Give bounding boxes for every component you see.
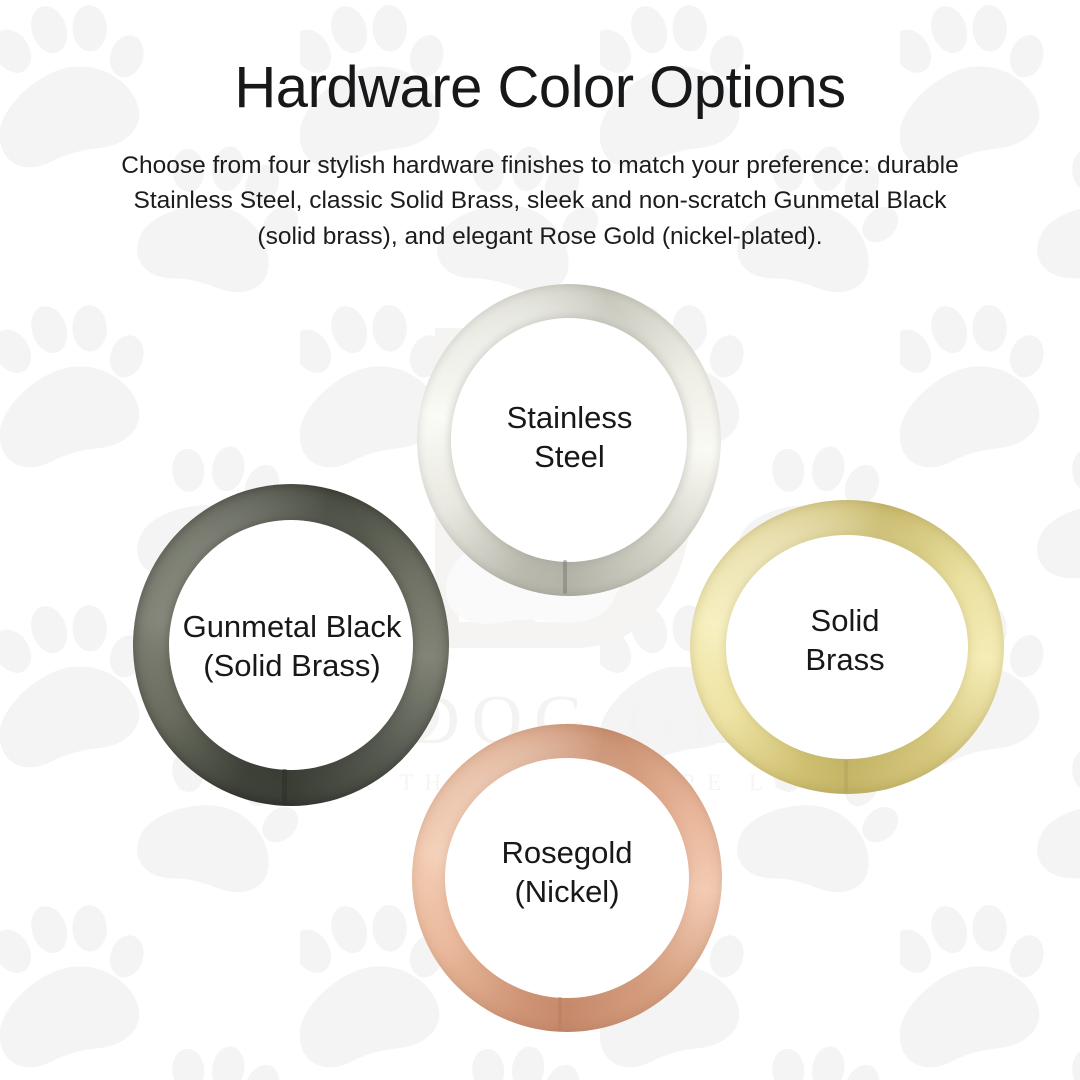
ring-solid-brass xyxy=(690,500,1004,794)
ring-seam-rosegold-nickel xyxy=(558,997,562,1031)
header: Hardware Color Options Choose from four … xyxy=(0,0,1080,255)
ring-hole-gunmetal-black xyxy=(169,520,413,770)
page-description: Choose from four stylish hardware finish… xyxy=(120,148,960,255)
ring-seam-solid-brass xyxy=(844,760,848,792)
ring-hole-rosegold-nickel xyxy=(445,758,689,998)
hardware-color-options-graphic: TOP DOG GEAR MADE FOR THE ADVENTURE LOVI… xyxy=(0,0,1080,1080)
ring-hole-stainless-steel xyxy=(451,318,687,562)
page-title: Hardware Color Options xyxy=(0,0,1080,122)
ring-gunmetal-black xyxy=(133,484,449,806)
ring-seam-stainless-steel xyxy=(563,560,567,594)
ring-hole-solid-brass xyxy=(726,535,968,759)
ring-seam-gunmetal-black xyxy=(282,769,287,805)
ring-stainless-steel xyxy=(417,284,721,596)
ring-rosegold-nickel xyxy=(412,724,722,1032)
